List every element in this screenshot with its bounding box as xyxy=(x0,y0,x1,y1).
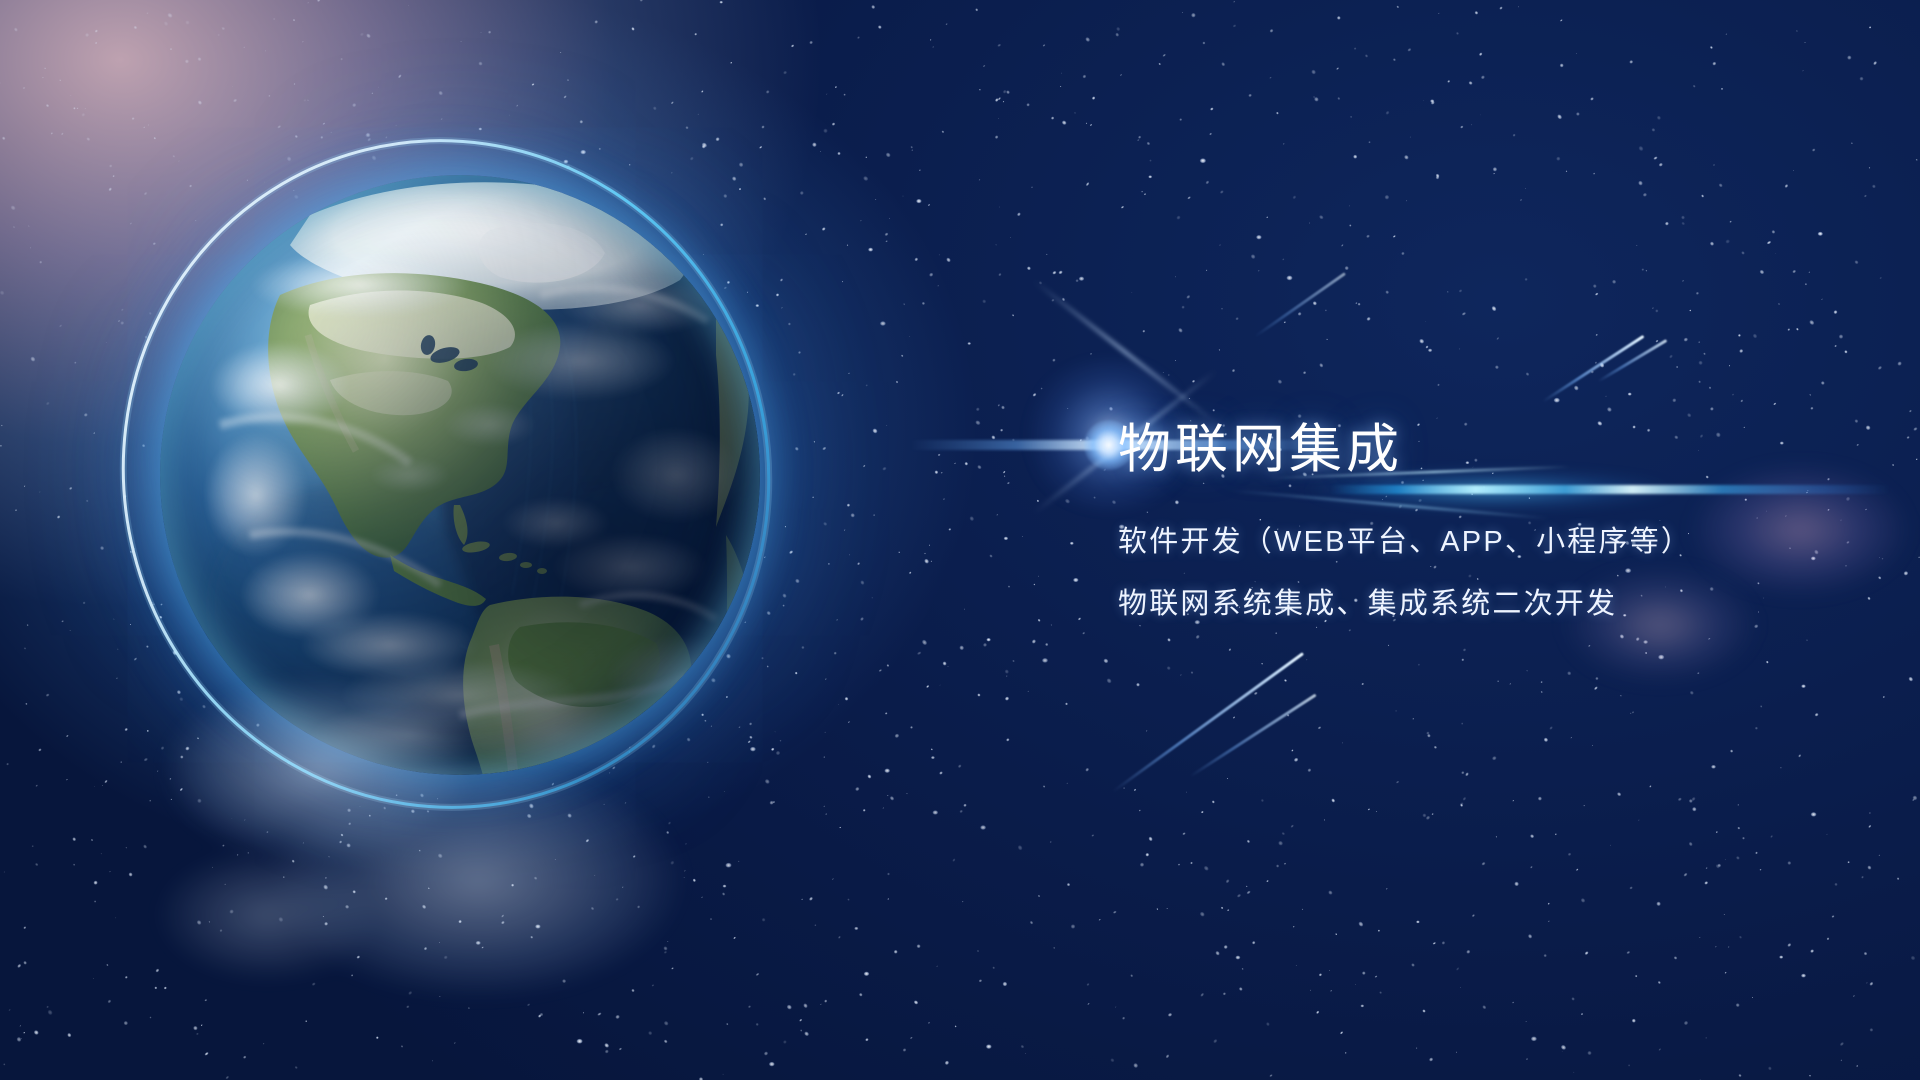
subtitle-line-1: 软件开发（WEB平台、APP、小程序等） xyxy=(1118,528,1692,557)
shooting-star-3 xyxy=(1112,652,1304,793)
shooting-star-4 xyxy=(1189,694,1316,778)
subtitle-line-2: 物联网系统集成、集成系统二次开发 xyxy=(1118,590,1617,619)
shooting-star-1 xyxy=(1542,335,1644,403)
soft-glow-warm-2 xyxy=(1530,540,1790,710)
earth-globe xyxy=(108,140,768,800)
globe-sphere xyxy=(160,175,760,775)
shooting-star-2 xyxy=(1597,339,1667,383)
hero-text-block: 物联网集成 软件开发（WEB平台、APP、小程序等） 物联网系统集成、集成系统二… xyxy=(1118,422,1878,478)
page-title: 物联网集成 xyxy=(1118,422,1878,478)
hero-banner: 物联网集成 软件开发（WEB平台、APP、小程序等） 物联网系统集成、集成系统二… xyxy=(0,0,1920,1080)
shooting-star-5 xyxy=(1254,272,1346,338)
